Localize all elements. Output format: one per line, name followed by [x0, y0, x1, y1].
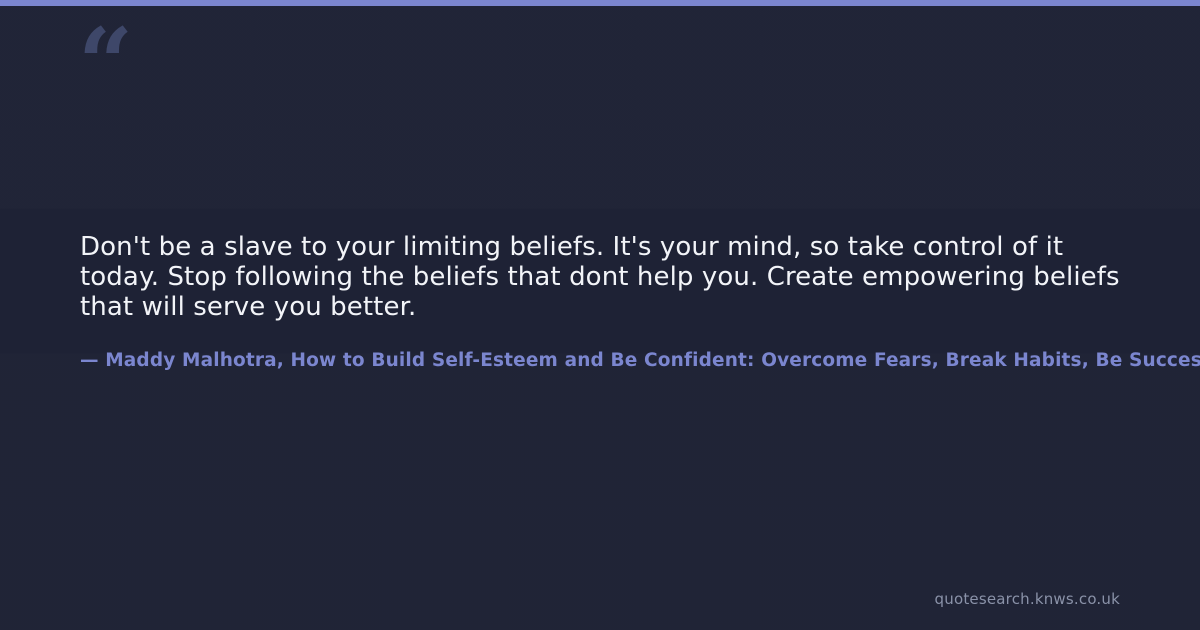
quote-attribution: — Maddy Malhotra, How to Build Self-Este…: [80, 348, 1200, 374]
quote-card: “ Don't be a slave to your limiting beli…: [0, 0, 1200, 630]
open-quote-icon: “: [78, 16, 133, 112]
quote-text: Don't be a slave to your limiting belief…: [80, 232, 1120, 322]
top-accent-bar: [0, 0, 1200, 6]
source-site-url: quotesearch.knws.co.uk: [935, 590, 1120, 608]
